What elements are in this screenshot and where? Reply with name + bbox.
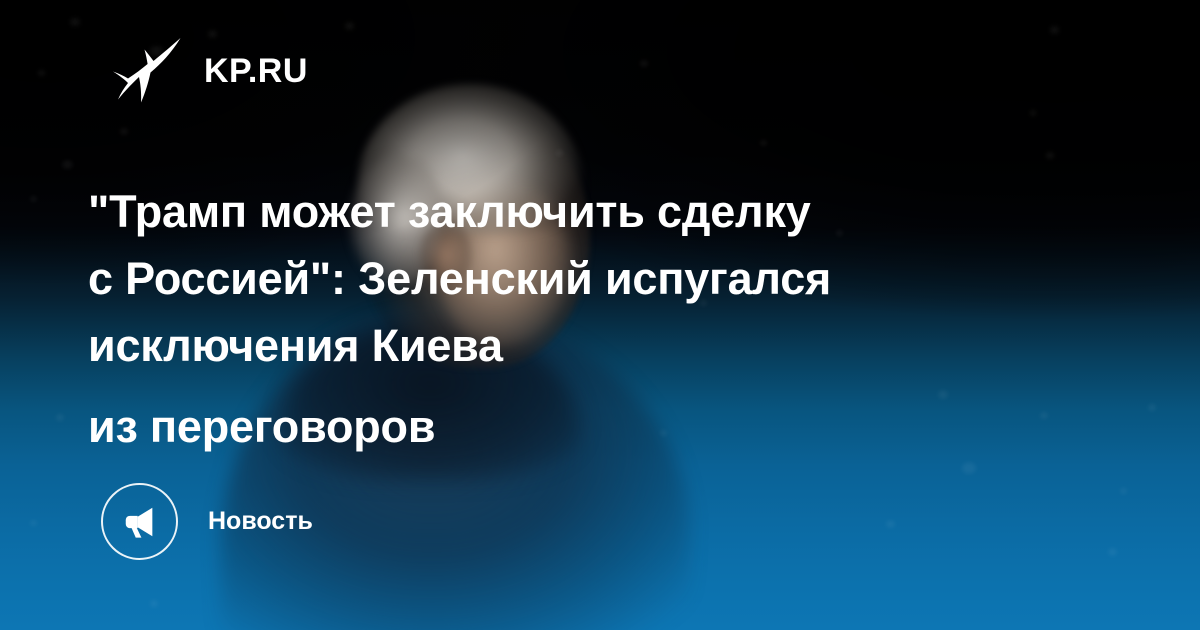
headline-line-3: исключения Киева	[88, 312, 1088, 379]
headline-line-4: из переговоров	[88, 393, 1088, 460]
megaphone-icon	[121, 503, 159, 541]
swallow-bird-icon	[110, 36, 182, 106]
headline-line-2: с Россией": Зеленский испугался	[88, 245, 1088, 312]
news-type-label: Новость	[208, 509, 313, 534]
news-share-card: KP.RU "Трамп может заключить сделку с Ро…	[0, 0, 1200, 630]
site-logo-text: KP.RU	[204, 54, 308, 88]
site-logo[interactable]: KP.RU	[110, 36, 308, 106]
headline: "Трамп может заключить сделку с Россией"…	[88, 178, 1088, 460]
news-type-badge[interactable]: Новость	[101, 483, 313, 560]
megaphone-badge-circle	[101, 483, 178, 560]
headline-line-1: "Трамп может заключить сделку	[88, 178, 1088, 245]
